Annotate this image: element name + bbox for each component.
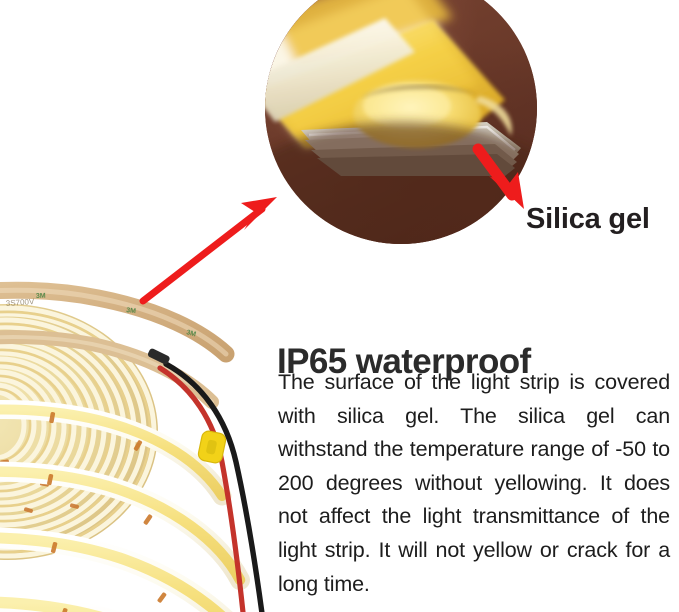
silica-gel-label: Silica gel [526,203,650,236]
macro-inset-circle [265,0,537,244]
led-strip-roll-photo: 3M 3M 3M 3M 3S700V 3S700V [0,236,300,612]
description-block: The surface of the light strip is covere… [278,366,670,601]
macro-strip-tip-svg [265,0,537,244]
infographic-canvas: 3M 3M 3M 3M 3S700V 3S700V [0,0,679,612]
svg-text:3M: 3M [126,307,137,315]
description-paragraph: The surface of the light strip is covere… [278,366,670,601]
svg-text:3M: 3M [36,293,46,300]
led-strip-roll-svg: 3M 3M 3M 3M 3S700V 3S700V [0,236,300,612]
